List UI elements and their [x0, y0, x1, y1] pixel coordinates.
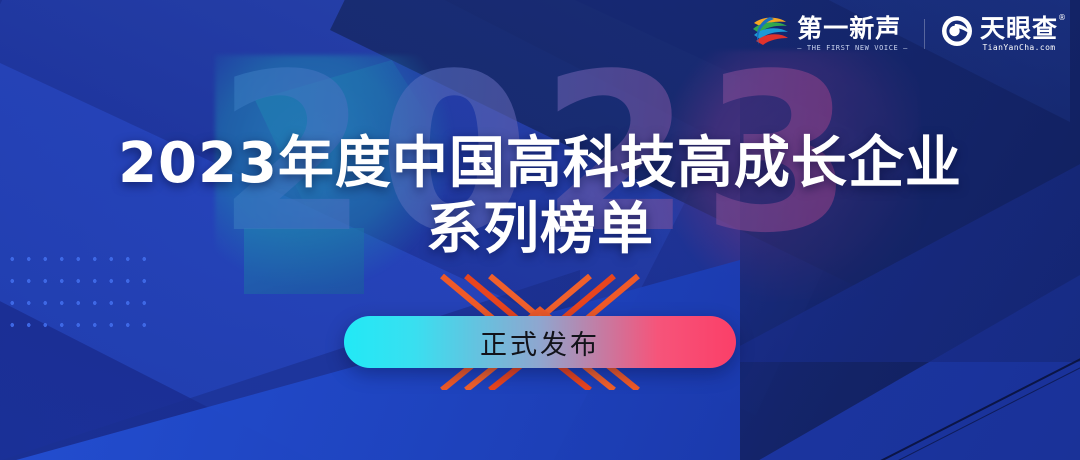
logo-diyi-xinsheng-tagline: — THE FIRST NEW VOICE —	[797, 45, 908, 52]
registered-trademark-icon: ®	[1058, 14, 1067, 22]
logo-tianyancha-name: 天眼查 ®	[980, 16, 1058, 41]
logo-diyi-xinsheng[interactable]: 第一新声 — THE FIRST NEW VOICE —	[750, 14, 908, 53]
logo-tianyancha-name-text: 天眼查	[980, 14, 1058, 43]
logo-diyi-xinsheng-text: 第一新声 — THE FIRST NEW VOICE —	[797, 16, 908, 52]
logo-group: 第一新声 — THE FIRST NEW VOICE — 天眼查 ® TianY…	[750, 14, 1058, 53]
page-title: 2023年度中国高科技高成长企业 系列榜单	[0, 132, 1080, 263]
logo-tianyancha-tagline: TianYanCha.com	[980, 44, 1058, 52]
release-status-pill[interactable]: 正式发布	[344, 316, 736, 368]
promo-banner: 2023 2023年度中国高科技高成长企业 系列榜单 正	[0, 0, 1080, 460]
title-line-2: 系列榜单	[0, 198, 1080, 262]
logo-tianyancha-text: 天眼查 ® TianYanCha.com	[980, 16, 1058, 52]
eye-lens-logo-icon	[941, 15, 973, 52]
logo-diyi-xinsheng-name: 第一新声	[797, 16, 908, 41]
release-status-label: 正式发布	[480, 323, 600, 362]
swirl-ribbon-logo-icon	[750, 14, 790, 53]
logo-divider	[924, 19, 925, 49]
title-line-1: 2023年度中国高科技高成长企业	[118, 131, 962, 196]
logo-tianyancha[interactable]: 天眼查 ® TianYanCha.com	[941, 15, 1058, 52]
